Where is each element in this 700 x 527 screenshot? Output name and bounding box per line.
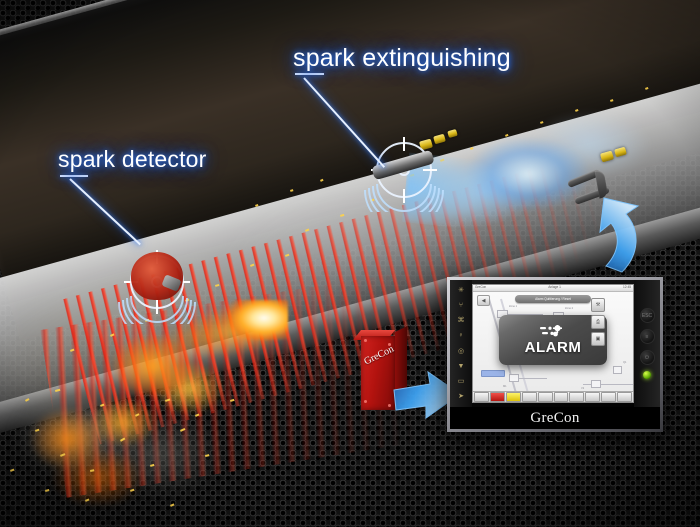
screen-toolbar — [473, 391, 633, 402]
control-panel[interactable]: ✳ ⑂ ⌘ ♀ ◎ ▼ ▭ ➤ GreCon Anlage 1 12:45 — [447, 277, 663, 432]
monitor-icon: ▭ — [458, 378, 465, 385]
alarm-text: ALARM — [525, 340, 582, 355]
tool-button-5[interactable] — [538, 392, 553, 402]
tool-button-9[interactable] — [601, 392, 616, 402]
box-screw-tl — [364, 339, 367, 342]
esc-button[interactable]: ESC — [640, 308, 655, 323]
spark-detector-device — [131, 252, 183, 300]
droplet-icon: ♀ — [458, 332, 463, 339]
home-button[interactable] — [474, 392, 489, 402]
arrow-icon: ➤ — [458, 393, 464, 400]
tool-button-10[interactable] — [617, 392, 632, 402]
panel-right-rail: ESC ≡ ⏻ — [634, 280, 660, 407]
schematic-label-5: Q1 — [623, 362, 626, 365]
tool-button-6[interactable] — [554, 392, 569, 402]
screen-back-button[interactable]: ◀ — [477, 295, 490, 306]
illustration-scene: spark extinguishing spark detector GreCo… — [0, 0, 700, 527]
screen-canvas: Zone 1 Zone 2 M1 V2 Q1 DL S3 ◀ Alarm Qui… — [473, 292, 633, 391]
schematic-label-3: M1 — [503, 386, 507, 389]
screen-titlebar: GreCon Anlage 1 12:45 — [473, 285, 633, 292]
schematic-label-2: Zone 2 — [565, 308, 573, 311]
tool-button-7[interactable] — [569, 392, 584, 402]
warning-button[interactable] — [506, 392, 521, 402]
panel-body: ✳ ⑂ ⌘ ♀ ◎ ▼ ▭ ➤ GreCon Anlage 1 12:45 — [450, 280, 660, 407]
tool-button-8[interactable] — [585, 392, 600, 402]
power-led — [643, 371, 651, 379]
extinguishing-label-underline — [295, 73, 324, 75]
detector-label-underline — [60, 175, 88, 177]
panel-inner: ✳ ⑂ ⌘ ♀ ◎ ▼ ▭ ➤ GreCon Anlage 1 12:45 — [450, 280, 660, 429]
spark-detector-label: spark detector — [58, 146, 207, 173]
schematic-node-3 — [509, 374, 519, 382]
alarm-acknowledge-button[interactable]: Alarm Quittierung / Reset — [515, 295, 591, 303]
panel-screen[interactable]: GreCon Anlage 1 12:45 — [472, 284, 634, 403]
fan-icon: ✳ — [458, 287, 464, 294]
valve-icon: ⑂ — [459, 302, 463, 309]
titlebar-right-text: 12:45 — [623, 286, 631, 289]
schematic-node-5 — [613, 366, 622, 374]
alarm-button[interactable] — [490, 392, 505, 402]
spark-alarm-icon — [540, 325, 566, 338]
panel-left-rail: ✳ ⑂ ⌘ ♀ ◎ ▼ ▭ ➤ — [450, 280, 472, 407]
save-button[interactable]: ▣ — [591, 332, 605, 346]
panel-brand-label: GreCon — [450, 407, 660, 429]
spark-extinguishing-label: spark extinguishing — [293, 44, 511, 73]
info-button[interactable] — [522, 392, 537, 402]
schematic-label-1: Zone 1 — [509, 306, 517, 309]
menu-button[interactable]: ≡ — [640, 329, 655, 344]
titlebar-left-text: GreCon — [475, 286, 486, 289]
signal-icon: ▼ — [458, 363, 465, 370]
target-icon: ◎ — [458, 348, 464, 355]
box-screw-bl — [364, 400, 367, 403]
screen-status-tag — [481, 370, 505, 377]
power-button[interactable]: ⏻ — [640, 350, 655, 365]
schematic-node-4 — [591, 380, 601, 388]
gauge-icon: ⌘ — [458, 317, 465, 324]
screen-side-buttons: ⚒ ⎙ ▣ — [591, 298, 605, 346]
arrow-to-nozzle — [578, 196, 650, 274]
titlebar-center-text: Anlage 1 — [548, 286, 561, 289]
printer-button[interactable]: ⎙ — [591, 315, 605, 329]
wrench-button[interactable]: ⚒ — [591, 298, 605, 312]
box-screw-br — [388, 404, 391, 407]
